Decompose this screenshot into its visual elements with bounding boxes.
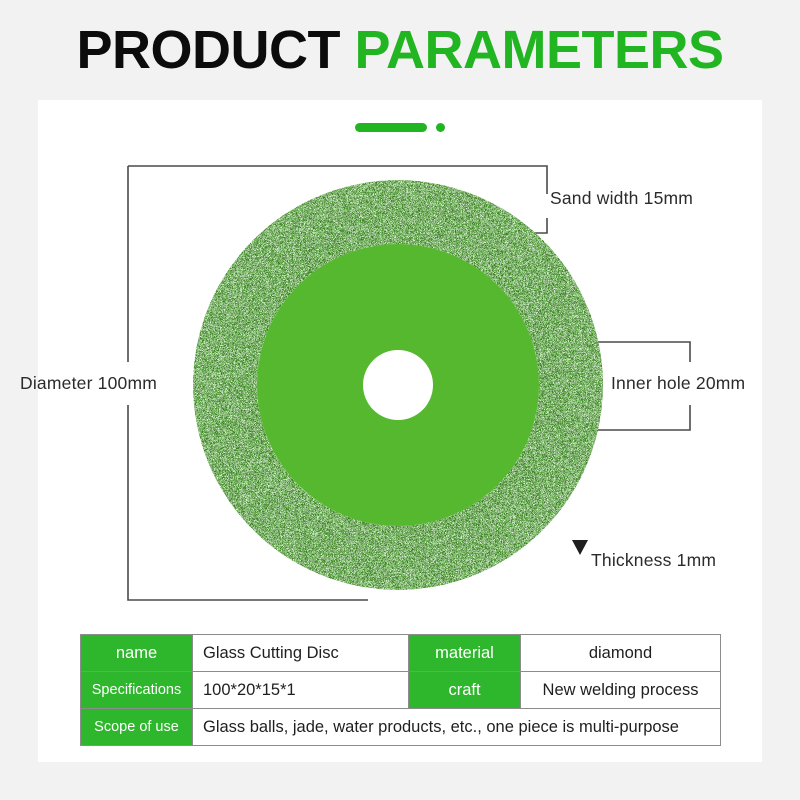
cell-value-name: Glass Cutting Disc [193, 635, 409, 672]
page-title-primary: PRODUCT [76, 20, 340, 80]
cell-value-craft: New welding process [521, 672, 721, 709]
disc-illustration [38, 100, 762, 620]
page-title-bar: PRODUCT PARAMETERS [0, 0, 800, 100]
cell-key-specifications: Specifications [81, 672, 193, 709]
page-title-secondary: PARAMETERS [354, 20, 723, 80]
disc-center-hole [363, 350, 433, 420]
table-row: Scope of use Glass balls, jade, water pr… [81, 709, 721, 746]
cell-value-scope-of-use: Glass balls, jade, water products, etc.,… [193, 709, 721, 746]
page-title: PRODUCT PARAMETERS [76, 23, 723, 77]
thickness-arrow-icon [572, 540, 588, 555]
annotation-thickness: Thickness 1mm [591, 550, 716, 571]
product-diagram: Sand width 15mm Diameter 100mm Inner hol… [38, 100, 762, 620]
cell-key-scope-of-use: Scope of use [81, 709, 193, 746]
content-card: Sand width 15mm Diameter 100mm Inner hol… [38, 100, 762, 762]
cell-key-material: material [409, 635, 521, 672]
cell-value-material: diamond [521, 635, 721, 672]
annotation-sand-width: Sand width 15mm [550, 188, 693, 209]
cell-value-specifications: 100*20*15*1 [193, 672, 409, 709]
annotation-inner-hole: Inner hole 20mm [611, 373, 745, 394]
table-row: name Glass Cutting Disc material diamond [81, 635, 721, 672]
cell-key-name: name [81, 635, 193, 672]
table-row: Specifications 100*20*15*1 craft New wel… [81, 672, 721, 709]
annotation-diameter: Diameter 100mm [20, 373, 157, 394]
specification-table: name Glass Cutting Disc material diamond… [80, 634, 721, 746]
cell-key-craft: craft [409, 672, 521, 709]
